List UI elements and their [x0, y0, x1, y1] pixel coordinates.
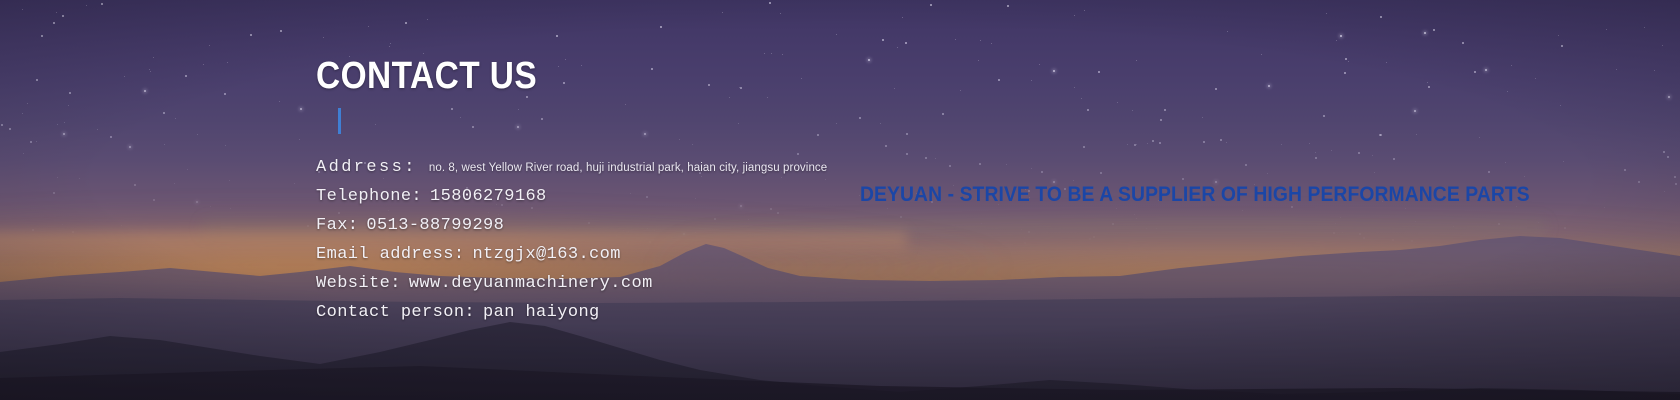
contact-us-banner: CONTACT US Address: no. 8, west Yellow R…: [0, 0, 1680, 400]
contact-label-address: Address:: [316, 158, 417, 177]
contact-label-contact-person: Contact person:: [316, 303, 475, 322]
contact-row-website: Website: www.deyuanmachinery.com: [316, 274, 1136, 303]
contact-row-contact-person: Contact person: pan haiyong: [316, 303, 1136, 332]
contact-label-email: Email address:: [316, 245, 464, 264]
company-slogan: DEYUAN - STRIVE TO BE A SUPPLIER OF HIGH…: [860, 183, 1530, 207]
contact-value-address: no. 8, west Yellow River road, huji indu…: [429, 162, 827, 174]
contact-value-contact-person: pan haiyong: [483, 303, 600, 322]
contact-label-telephone: Telephone:: [316, 187, 422, 206]
contact-value-fax: 0513-88799298: [366, 216, 504, 235]
title-accent-bar: [338, 108, 341, 134]
contact-row-fax: Fax: 0513-88799298: [316, 216, 1136, 245]
contact-value-telephone[interactable]: 15806279168: [430, 187, 547, 206]
contact-label-fax: Fax:: [316, 216, 358, 235]
contact-value-email[interactable]: ntzgjx@163.com: [472, 245, 620, 264]
contact-label-website: Website:: [316, 274, 401, 293]
banner-content: CONTACT US Address: no. 8, west Yellow R…: [0, 0, 1680, 400]
page-title: CONTACT US: [316, 56, 1038, 96]
contact-value-website[interactable]: www.deyuanmachinery.com: [409, 274, 653, 293]
contact-row-email: Email address: ntzgjx@163.com: [316, 245, 1136, 274]
